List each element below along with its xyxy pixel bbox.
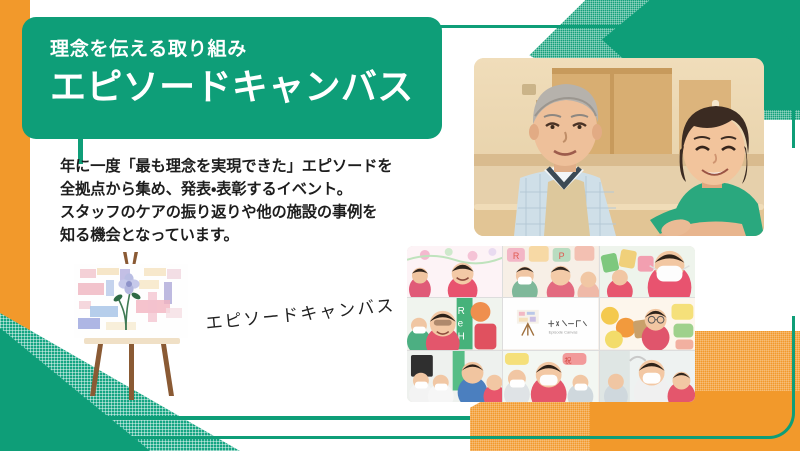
grid-cell xyxy=(600,246,695,297)
grid-cell: 祝 xyxy=(503,351,598,402)
grid-cell: R P xyxy=(503,246,598,297)
video-call-grid-photo: R P xyxy=(407,246,695,402)
title-card: 理念を伝える取り組み エピソードキャンバス xyxy=(22,17,442,139)
bottom-green-rule xyxy=(0,416,800,420)
handwritten-caption: エピソードキャンバス xyxy=(204,291,396,334)
grid-cell xyxy=(600,351,695,402)
svg-text:R: R xyxy=(513,251,520,261)
easel-illustration xyxy=(60,250,210,400)
svg-text:e: e xyxy=(458,319,464,330)
title-subtitle: 理念を伝える取り組み xyxy=(50,39,442,62)
svg-text:P: P xyxy=(559,251,565,261)
svg-text:R: R xyxy=(458,306,465,317)
elderly-man-and-caregiver-photo xyxy=(474,58,764,236)
body-line-1: 年に一度「最も理念を実現できた」エピソードを xyxy=(60,155,412,178)
grid-cell: R e H xyxy=(407,298,502,349)
grid-cell xyxy=(407,246,502,297)
svg-text:Episode Canvas: Episode Canvas xyxy=(549,330,578,335)
slide-canvas: 理念を伝える取り組み エピソードキャンバス 年に一度「最も理念を実現できた」エピ… xyxy=(0,0,800,451)
body-line-2: 全拠点から集め、発表・表彰するイベント。 xyxy=(60,178,412,201)
body-copy: 年に一度「最も理念を実現できた」エピソードを 全拠点から集め、発表・表彰するイベ… xyxy=(60,155,412,247)
grid-cell-logo: Episode Canvas xyxy=(503,298,598,349)
body-line-3: スタッフのケアの振り返りや他の施設の事例を xyxy=(60,201,412,224)
grid-cell xyxy=(600,298,695,349)
body-line-4: 知る機会となっています。 xyxy=(60,224,412,247)
grid-cell xyxy=(407,351,502,402)
page-title: エピソードキャンバス xyxy=(50,66,442,108)
svg-text:祝: 祝 xyxy=(565,356,572,365)
